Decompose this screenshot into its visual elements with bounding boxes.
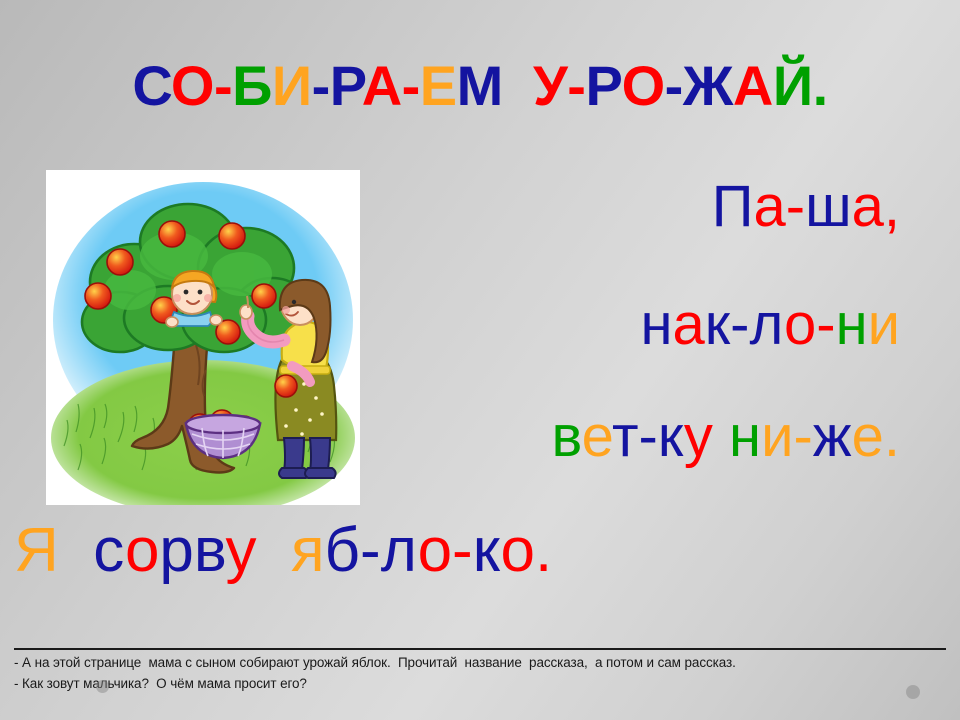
illustration-svg bbox=[46, 170, 360, 505]
glyph: - bbox=[793, 404, 812, 469]
decorative-dot-left bbox=[96, 680, 109, 693]
glyph: у bbox=[684, 404, 713, 469]
glyph: л bbox=[381, 516, 418, 585]
footer-divider bbox=[14, 648, 946, 650]
glyph: у bbox=[225, 516, 256, 585]
glyph bbox=[713, 404, 729, 469]
slide-canvas: СО-БИ-РА-ЕМ У-РО-ЖАЙ. bbox=[0, 0, 960, 720]
glyph: - bbox=[360, 516, 381, 585]
glyph: Е bbox=[420, 54, 457, 117]
glyph: л bbox=[749, 292, 784, 357]
verse-line-4: Я сорву яб-ло-ко. bbox=[14, 520, 734, 582]
glyph: М bbox=[457, 54, 503, 117]
glyph: Р bbox=[330, 54, 362, 117]
glyph: Я bbox=[14, 516, 59, 585]
glyph: А bbox=[362, 54, 402, 117]
glyph: в bbox=[194, 516, 226, 585]
page-title: СО-БИ-РА-ЕМ У-РО-ЖАЙ. bbox=[0, 58, 960, 114]
glyph: о bbox=[501, 516, 535, 585]
glyph: к bbox=[705, 292, 730, 357]
glyph: я bbox=[291, 516, 325, 585]
glyph: , bbox=[884, 174, 900, 239]
glyph: о bbox=[125, 516, 159, 585]
verse-line-1: Па-ша, bbox=[380, 178, 900, 236]
glyph: в bbox=[551, 404, 581, 469]
glyph: к bbox=[473, 516, 501, 585]
glyph: И bbox=[272, 54, 312, 117]
footer-notes: - А на этой странице мама с сыном собира… bbox=[14, 653, 946, 695]
glyph: - bbox=[816, 292, 835, 357]
glyph: а bbox=[753, 174, 785, 239]
glyph: н bbox=[836, 292, 868, 357]
glyph: . bbox=[813, 54, 828, 117]
glyph: Р bbox=[585, 54, 621, 117]
glyph: О bbox=[622, 54, 665, 117]
glyph: с bbox=[93, 516, 125, 585]
glyph: р bbox=[159, 516, 193, 585]
glyph bbox=[59, 516, 93, 585]
glyph: а bbox=[852, 174, 884, 239]
glyph: е bbox=[582, 404, 612, 469]
glyph: С bbox=[132, 54, 171, 117]
glyph: О bbox=[171, 54, 214, 117]
glyph: Б bbox=[232, 54, 272, 117]
decorative-dot-right bbox=[906, 685, 920, 699]
glyph: Ж bbox=[683, 54, 733, 117]
glyph: П bbox=[712, 174, 754, 239]
glyph: и bbox=[868, 292, 900, 357]
glyph: е bbox=[852, 404, 884, 469]
glyph: Й bbox=[773, 54, 813, 117]
glyph: . bbox=[884, 404, 900, 469]
glyph: - bbox=[402, 54, 420, 117]
glyph: - bbox=[452, 516, 473, 585]
glyph: о bbox=[784, 292, 816, 357]
footer-note-1: - А на этой странице мама с сыном собира… bbox=[14, 653, 946, 674]
glyph: б bbox=[325, 516, 361, 585]
glyph bbox=[256, 516, 290, 585]
glyph: А bbox=[733, 54, 773, 117]
glyph: - bbox=[730, 292, 749, 357]
glyph: У bbox=[533, 54, 567, 117]
glyph: . bbox=[535, 516, 552, 585]
glyph: ш bbox=[805, 174, 852, 239]
glyph: ж bbox=[813, 404, 852, 469]
glyph: и bbox=[761, 404, 793, 469]
glyph: а bbox=[673, 292, 705, 357]
glyph: - bbox=[665, 54, 683, 117]
glyph: к bbox=[658, 404, 684, 469]
glyph: - bbox=[567, 54, 585, 117]
glyph: т bbox=[612, 404, 639, 469]
glyph: - bbox=[214, 54, 232, 117]
verse-line-2: нак-ло-ни bbox=[380, 296, 900, 354]
verse-line-3: вет-ку ни-же. bbox=[380, 408, 900, 466]
glyph: - bbox=[639, 404, 658, 469]
glyph: н bbox=[640, 292, 672, 357]
footer-note-2: - Как зовут мальчика? О чём мама просит … bbox=[14, 674, 946, 695]
glyph bbox=[503, 54, 533, 117]
glyph: н bbox=[729, 404, 761, 469]
glyph: о bbox=[418, 516, 452, 585]
glyph: - bbox=[786, 174, 805, 239]
glyph: - bbox=[312, 54, 330, 117]
apple-harvest-illustration bbox=[46, 170, 360, 505]
